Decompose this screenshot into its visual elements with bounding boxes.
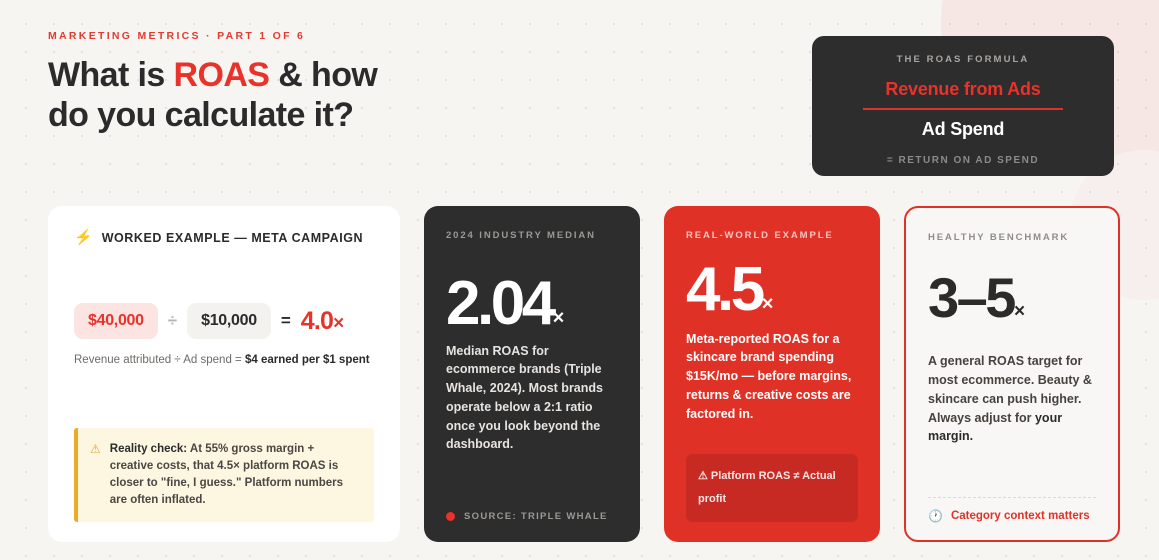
result-suffix: ×: [333, 313, 343, 334]
industry-median-source: SOURCE: TRIPLE WHALE: [446, 511, 618, 522]
header: MARKETING METRICS · PART 1 OF 6 What is …: [48, 30, 648, 136]
benchmark-number: 3–5: [928, 266, 1014, 329]
card-row: ⚡ WORKED EXAMPLE — META CAMPAIGN $40,000…: [48, 206, 1120, 542]
industry-median-eyebrow: 2024 INDUSTRY MEDIAN: [446, 230, 618, 241]
worked-example-title: WORKED EXAMPLE — META CAMPAIGN: [102, 231, 363, 245]
caption-bold: $4 earned per $1 spent: [245, 354, 370, 366]
equation-row: $40,000 ÷ $10,000 = 4.0×: [74, 303, 374, 339]
ad-spend-value-pill: $10,000: [187, 303, 271, 339]
formula-label: THE ROAS FORMULA: [838, 54, 1088, 65]
real-world-eyebrow: REAL-WORLD EXAMPLE: [686, 230, 858, 241]
card-real-world-example: REAL-WORLD EXAMPLE 4.5× Meta-reported RO…: [664, 206, 880, 542]
realworld-number: 4.5: [686, 255, 762, 324]
equals-operator: =: [281, 311, 291, 331]
page-title: What is ROAS & how do you calculate it?: [48, 56, 648, 136]
worked-example-header: ⚡ WORKED EXAMPLE — META CAMPAIGN: [74, 230, 374, 245]
warning-triangle-icon: ⚠: [90, 441, 101, 509]
benchmark-value: 3–5×: [928, 273, 1096, 322]
real-world-warning-note: ⚠ Platform ROAS ≠ Actual profit: [686, 454, 858, 522]
reality-check-bold: Reality check:: [110, 443, 187, 455]
headline-highlight-roas: ROAS: [174, 56, 270, 94]
benchmark-footer: 🕐 Category context matters: [928, 510, 1096, 522]
real-world-value: 4.5×: [686, 263, 858, 318]
industry-median-value: 2.04×: [446, 277, 618, 332]
caption-prefix: Revenue attributed ÷ Ad spend =: [74, 354, 245, 366]
benchmark-divider: [928, 497, 1096, 498]
formula-result-label: = RETURN ON AD SPEND: [838, 155, 1088, 166]
headline-segment-2: & how: [269, 56, 377, 94]
real-world-body: Meta-reported ROAS for a skincare brand …: [686, 330, 858, 424]
card-healthy-benchmark: HEALTHY BENCHMARK 3–5× A general ROAS ta…: [904, 206, 1120, 542]
revenue-value-pill: $40,000: [74, 303, 158, 339]
industry-median-body: Median ROAS for ecommerce brands (Triple…: [446, 342, 618, 455]
source-dot-icon: [446, 512, 455, 521]
formula-division-rule: [863, 108, 1063, 110]
median-suffix: ×: [553, 307, 565, 329]
card-worked-example: ⚡ WORKED EXAMPLE — META CAMPAIGN $40,000…: [48, 206, 400, 542]
clock-icon: 🕐: [928, 510, 943, 522]
benchmark-suffix: ×: [1014, 301, 1025, 322]
roas-formula-card: THE ROAS FORMULA Revenue from Ads Ad Spe…: [812, 36, 1114, 176]
result-number: 4.0: [301, 307, 333, 335]
headline-segment-1: What is: [48, 56, 174, 94]
equation-result-value: 4.0×: [301, 307, 344, 336]
bolt-icon: ⚡: [74, 230, 93, 245]
benchmark-footer-label: Category context matters: [951, 510, 1090, 522]
headline-line-2: do you calculate it?: [48, 96, 353, 134]
benchmark-body-prefix: A general ROAS target for most ecommerce…: [928, 354, 1092, 424]
benchmark-eyebrow: HEALTHY BENCHMARK: [928, 232, 1096, 243]
card-industry-median: 2024 INDUSTRY MEDIAN 2.04× Median ROAS f…: [424, 206, 640, 542]
benchmark-body: A general ROAS target for most ecommerce…: [928, 352, 1096, 446]
formula-numerator: Revenue from Ads: [838, 79, 1088, 108]
reality-check-text: Reality check: At 55% gross margin + cre…: [110, 441, 360, 509]
equation-caption: Revenue attributed ÷ Ad spend = $4 earne…: [74, 352, 374, 369]
eyebrow-label: MARKETING METRICS · PART 1 OF 6: [48, 30, 648, 42]
source-label: SOURCE: TRIPLE WHALE: [464, 511, 608, 522]
divide-operator: ÷: [168, 311, 177, 331]
reality-check-callout: ⚠ Reality check: At 55% gross margin + c…: [74, 428, 374, 522]
median-number: 2.04: [446, 269, 553, 338]
realworld-suffix: ×: [762, 293, 774, 315]
infographic-page: MARKETING METRICS · PART 1 OF 6 What is …: [0, 0, 1159, 560]
formula-denominator: Ad Spend: [838, 119, 1088, 140]
